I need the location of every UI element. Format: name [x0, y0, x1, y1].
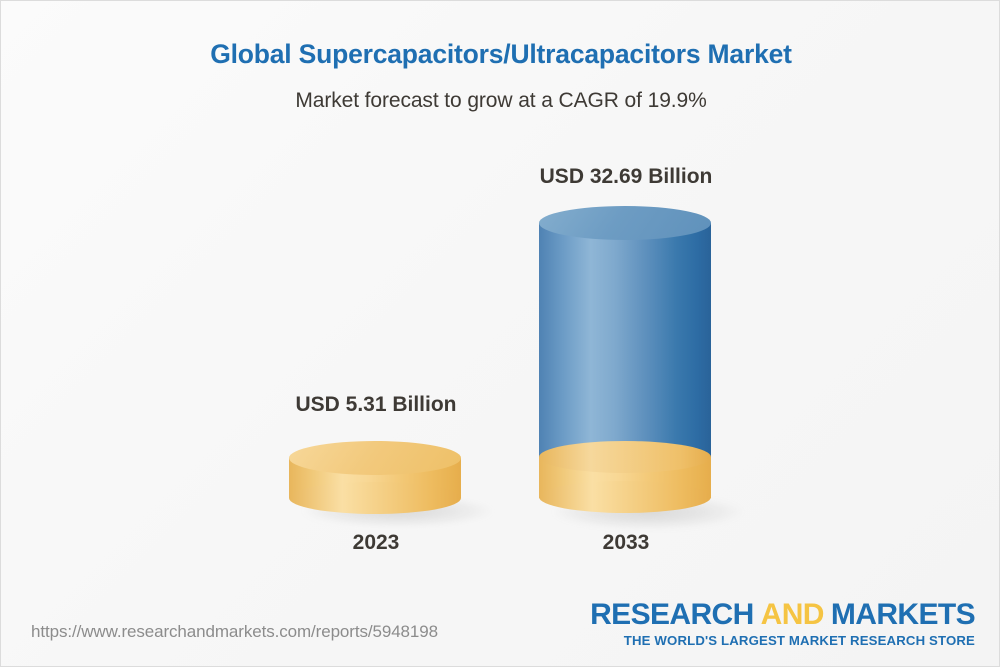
category-label-2033: 2033 — [506, 531, 746, 555]
value-label-2033: USD 32.69 Billion — [506, 165, 746, 189]
value-label-2023: USD 5.31 Billion — [256, 393, 496, 417]
cylinder-bottom-cap-2033 — [539, 481, 711, 513]
chart-plot-area: USD 32.69 Billion USD 5.31 Billion — [1, 1, 1000, 667]
brand-word-research: RESEARCH — [590, 598, 754, 631]
category-label-2023: 2023 — [256, 531, 496, 555]
brand-logo[interactable]: RESEARCHANDMARKETS THE WORLD'S LARGEST M… — [590, 599, 975, 648]
brand-word-markets: MARKETS — [831, 598, 975, 631]
cylinder-bottom-cap-2023 — [289, 482, 461, 514]
brand-word-and: AND — [754, 598, 831, 631]
brand-wordmark: RESEARCHANDMARKETS — [590, 599, 975, 631]
cylinder-top-cap-2033 — [539, 206, 711, 240]
source-url[interactable]: https://www.researchandmarkets.com/repor… — [31, 622, 438, 642]
market-forecast-infographic: Global Supercapacitors/Ultracapacitors M… — [0, 0, 1000, 667]
brand-tagline: THE WORLD'S LARGEST MARKET RESEARCH STOR… — [590, 633, 975, 648]
cylinder-body-blue-2033 — [539, 223, 711, 457]
cylinder-top-cap-2023 — [289, 441, 461, 475]
